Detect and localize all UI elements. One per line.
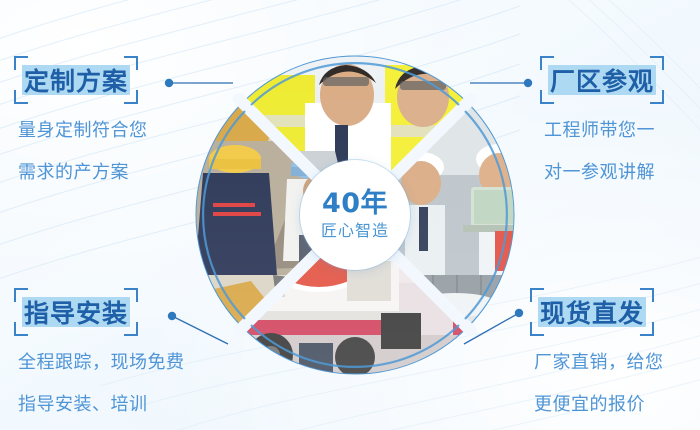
quadrant-block-install-guide: 指导安装 全程跟踪，现场免费 指导安装、培训 bbox=[14, 288, 185, 419]
quadrant-title-text: 厂区参观 bbox=[550, 67, 654, 96]
quadrant-title-custom-plan[interactable]: 定制方案 bbox=[14, 56, 138, 104]
quadrant-title-factory-visit[interactable]: 厂区参观 bbox=[540, 56, 664, 104]
quadrant-desc-line-2: 需求的产方案 bbox=[18, 158, 148, 188]
quadrant-desc-line-1: 量身定制符合您 bbox=[18, 116, 148, 146]
quadrant-desc-line-2: 更便宜的报价 bbox=[534, 390, 664, 420]
quadrant-title-stock-shipping[interactable]: 现货直发 bbox=[530, 288, 654, 336]
connector-dot-bottom-right bbox=[515, 309, 523, 317]
quadrant-title-text: 现货直发 bbox=[540, 299, 644, 328]
quadrant-desc-line-1: 全程跟踪，现场免费 bbox=[18, 348, 185, 378]
center-subline: 匠心智造 bbox=[321, 223, 389, 240]
quadrant-block-factory-visit: 厂区参观 工程师带您一 对一参观讲解 bbox=[540, 56, 664, 187]
quadrant-desc-line-2: 指导安装、培训 bbox=[18, 390, 185, 420]
center-headline: 40年 bbox=[322, 190, 388, 218]
quadrant-desc-line-2: 对一参观讲解 bbox=[544, 158, 664, 188]
center-badge: 40年 匠心智造 bbox=[300, 160, 410, 270]
promo-banner: 40年 匠心智造 定制方案 量身定制符合您 需求的产方案 厂区参观 工程师带您一… bbox=[0, 0, 700, 430]
quadrant-desc-line-1: 工程师带您一 bbox=[544, 116, 664, 146]
quadrant-title-text: 定制方案 bbox=[24, 67, 128, 96]
connector-dot-top-right bbox=[524, 79, 532, 87]
quadrant-block-stock-shipping: 现货直发 厂家直销，给您 更便宜的报价 bbox=[530, 288, 664, 419]
quadrant-desc-line-1: 厂家直销，给您 bbox=[534, 348, 664, 378]
quadrant-title-text: 指导安装 bbox=[24, 299, 128, 328]
quadrant-title-install-guide[interactable]: 指导安装 bbox=[14, 288, 138, 336]
connector-dot-top-left bbox=[165, 79, 173, 87]
quadrant-block-custom-plan: 定制方案 量身定制符合您 需求的产方案 bbox=[14, 56, 148, 187]
